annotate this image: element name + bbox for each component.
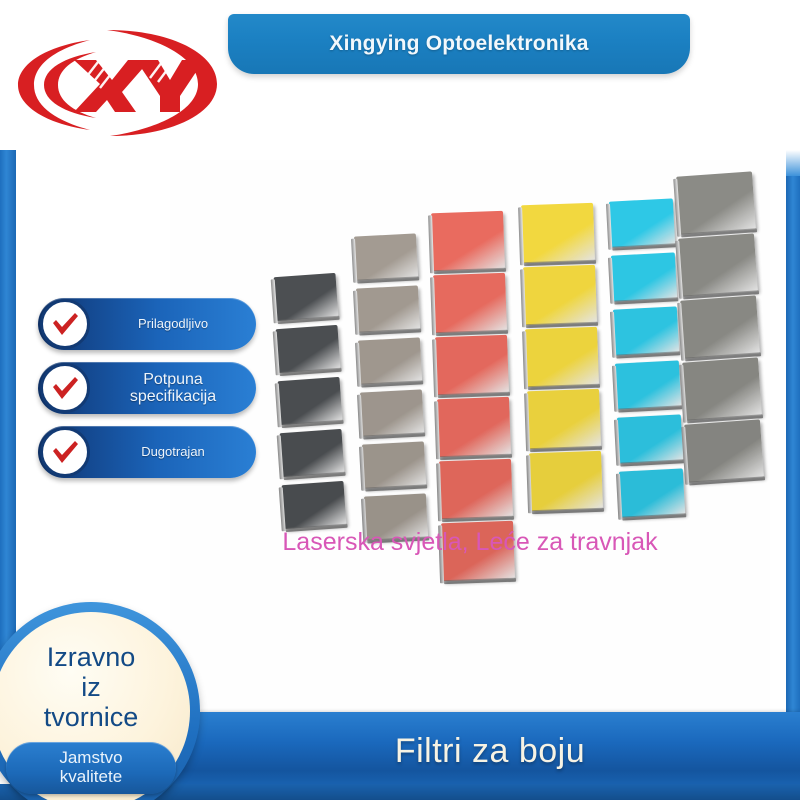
quality-line1: Jamstvo <box>59 748 122 767</box>
feature-badge-list: Prilagodljivo Potpuna specifikacija Dugo… <box>38 298 258 490</box>
left-accent-strip <box>0 150 16 710</box>
filter-tile-shadow-edge <box>616 351 680 358</box>
feature-badge-label-line1: Potpuna <box>143 371 203 388</box>
filter-tile-shadow-edge <box>365 484 427 491</box>
footer-title: Filtri za boju <box>275 732 585 771</box>
filter-tile-edge <box>432 339 438 397</box>
filter-tile-edge <box>351 239 357 283</box>
filter-tile <box>678 233 758 296</box>
company-name: Xingying Optoelektronika <box>329 32 588 56</box>
filter-tile <box>684 419 764 482</box>
filter-tile-edge <box>616 474 622 520</box>
quality-guarantee-pill[interactable]: Jamstvo kvalitete <box>6 742 176 794</box>
filter-tile <box>529 451 603 511</box>
factory-badge-line2: iz <box>81 672 101 702</box>
filter-tile-shadow-edge <box>444 578 516 585</box>
filter-tile-shadow-edge <box>282 420 344 428</box>
filter-tile-edge <box>277 435 284 479</box>
product-caption: Laserska svjetla, Leće za travnjak <box>170 528 770 557</box>
filter-tile-edge <box>524 393 530 451</box>
filter-tile <box>437 397 511 457</box>
filter-tile-shadow-edge <box>363 432 425 439</box>
right-accent-strip <box>786 150 800 715</box>
filter-tile-shadow-edge <box>620 459 684 466</box>
filter-tile-shadow-edge <box>357 276 419 283</box>
filter-tile <box>435 335 509 395</box>
filter-tile <box>280 429 345 477</box>
filter-tile-shadow-edge <box>532 508 604 515</box>
check-icon <box>40 299 90 349</box>
filter-tile-edge <box>275 383 282 427</box>
filter-tile-edge <box>355 343 361 387</box>
filter-tile-shadow-edge <box>361 380 423 387</box>
filter-tile <box>282 481 347 529</box>
filter-tile-edge <box>279 487 286 531</box>
color-filter-grid <box>170 160 770 720</box>
quality-guarantee-text: Jamstvo kvalitete <box>59 749 122 786</box>
feature-badge-potpuna-specifikacija[interactable]: Potpuna specifikacija <box>38 362 256 414</box>
filter-tile-shadow-edge <box>614 297 678 304</box>
filter-tile-edge <box>679 365 687 423</box>
filter-tile-edge <box>430 277 436 335</box>
filter-tile-edge <box>612 366 618 412</box>
filter-tile <box>676 171 756 234</box>
check-icon <box>40 363 90 413</box>
filter-tile <box>276 325 341 373</box>
right-accent-strip-cap <box>786 150 800 176</box>
filter-tile <box>439 459 513 519</box>
filter-tile-edge <box>606 204 612 250</box>
filter-tile-edge <box>273 331 280 375</box>
filter-tile-edge <box>436 463 442 521</box>
product-banner-image: Xingying Optoelektronika Laserska svjetl… <box>0 0 800 800</box>
filter-tile-shadow-edge <box>622 513 686 520</box>
filter-tile-shadow-edge <box>359 328 421 335</box>
filter-tile-shadow-edge <box>284 472 346 480</box>
filter-tile <box>356 285 420 332</box>
filter-tile <box>613 306 679 355</box>
filter-tile-edge <box>353 291 359 335</box>
feature-badge-label: Prilagodljivo <box>98 317 248 331</box>
xy-logo <box>12 22 227 142</box>
filter-tile-edge <box>359 447 365 491</box>
factory-badge-line1: Izravno <box>47 642 136 672</box>
filter-tile <box>525 327 599 387</box>
filter-tile <box>274 273 339 321</box>
filter-tile <box>611 252 677 301</box>
factory-badge-text: Izravno iz tvornice <box>44 642 139 733</box>
filter-tile-shadow-edge <box>689 476 765 485</box>
filter-tile <box>682 357 762 420</box>
filter-tile-edge <box>610 312 616 358</box>
filter-tile-edge <box>357 395 363 439</box>
filter-tile <box>617 414 683 463</box>
feature-badge-label: Dugotrajan <box>98 445 248 459</box>
filter-tile <box>358 337 422 384</box>
filter-tile <box>619 468 685 517</box>
filter-tile-shadow-edge <box>280 368 342 376</box>
header-band: Xingying Optoelektronika <box>0 0 800 150</box>
filter-tile-shadow-edge <box>278 316 340 324</box>
filter-tile-edge <box>434 401 440 459</box>
filter-tile <box>523 265 597 325</box>
feature-badge-dugotrajan[interactable]: Dugotrajan <box>38 426 256 478</box>
quality-line2: kvalitete <box>60 767 122 786</box>
check-icon <box>40 427 90 477</box>
filter-tile-edge <box>673 179 681 237</box>
filter-tile-shadow-edge <box>618 405 682 412</box>
filter-tile <box>680 295 760 358</box>
filter-tile <box>431 211 505 271</box>
filter-tile <box>433 273 507 333</box>
filter-tile <box>521 203 595 263</box>
filter-tile-shadow-edge <box>612 243 676 250</box>
filter-tile-edge <box>522 331 528 389</box>
filter-tile <box>354 233 418 280</box>
feature-badge-label-line2: specifikacija <box>130 388 216 405</box>
factory-badge-inner: Izravno iz tvornice Jamstvo kvalitete <box>0 612 190 800</box>
filter-tile-edge <box>428 215 434 273</box>
filter-tile <box>615 360 681 409</box>
feature-badge-prilagodljivo[interactable]: Prilagodljivo <box>38 298 256 350</box>
filter-tile-edge <box>526 455 532 513</box>
filter-tile-edge <box>518 207 524 265</box>
filter-tile <box>609 198 675 247</box>
feature-badge-label: Potpuna specifikacija <box>98 371 248 406</box>
filter-tile <box>362 441 426 488</box>
filter-tile <box>278 377 343 425</box>
filter-tile <box>527 389 601 449</box>
filter-tile-edge <box>520 269 526 327</box>
product-photo <box>170 160 770 720</box>
filter-tile <box>360 389 424 436</box>
factory-badge-line3: tvornice <box>44 702 139 732</box>
filter-tile-edge <box>271 279 278 323</box>
filter-tile-edge <box>614 420 620 466</box>
filter-tile-edge <box>608 258 614 304</box>
header-banner: Xingying Optoelektronika <box>228 14 690 74</box>
